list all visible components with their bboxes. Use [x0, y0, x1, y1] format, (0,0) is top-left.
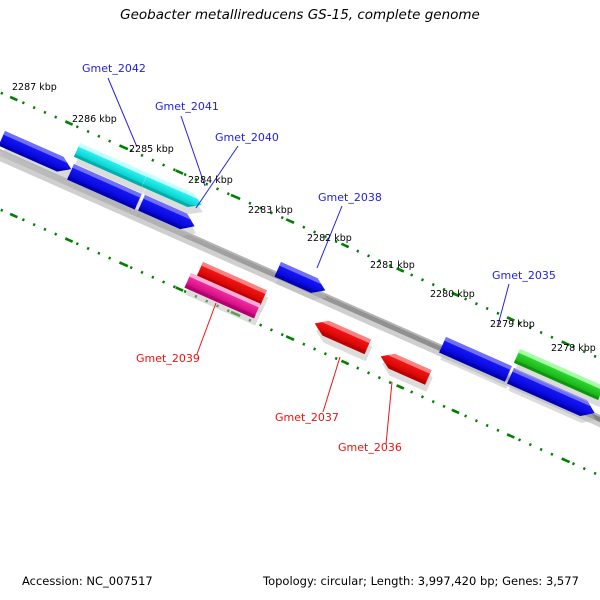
tick-label-2284: 2284 kbp	[188, 175, 233, 186]
leader-line-2037	[323, 357, 340, 412]
genome-map-canvas: Geobacter metallireducens GS-15, complet…	[0, 0, 600, 600]
leader-line-2036	[386, 382, 392, 444]
gene-feature-2035-a[interactable]	[437, 337, 516, 389]
tick-label-2285: 2285 kbp	[129, 144, 174, 155]
genome-stats-text: Topology: circular; Length: 3,997,420 bp…	[262, 574, 579, 588]
tick-label-2278: 2278 kbp	[551, 343, 596, 354]
gene-label-2037[interactable]: Gmet_2037	[275, 411, 339, 424]
gene-feature-2036[interactable]	[375, 349, 435, 392]
tick-label-2286: 2286 kbp	[72, 114, 117, 125]
genome-map-svg: Geobacter metallireducens GS-15, complet…	[0, 0, 600, 600]
gene-label-2041[interactable]: Gmet_2041	[155, 100, 219, 113]
tick-rail-lower	[0, 205, 600, 480]
gene-label-2040[interactable]: Gmet_2040	[215, 131, 279, 144]
tick-label-2287: 2287 kbp	[12, 82, 57, 93]
leader-line-2039	[197, 303, 216, 354]
page-title: Geobacter metallireducens GS-15, complet…	[120, 7, 480, 23]
tick-label-2279: 2279 kbp	[490, 319, 535, 330]
leader-line-2042	[108, 78, 137, 147]
gene-label-2038[interactable]: Gmet_2038	[318, 191, 382, 204]
tick-label-2282: 2282 kbp	[307, 233, 352, 244]
tick-label-2280: 2280 kbp	[430, 289, 475, 300]
accession-text: Accession: NC_007517	[22, 574, 153, 588]
gene-label-2042[interactable]: Gmet_2042	[82, 62, 146, 75]
gene-label-2036[interactable]: Gmet_2036	[338, 441, 402, 454]
gene-label-2035[interactable]: Gmet_2035	[492, 269, 556, 282]
tick-label-2283: 2283 kbp	[248, 205, 293, 216]
tick-label-2281: 2281 kbp	[370, 260, 415, 271]
gene-label-2039[interactable]: Gmet_2039	[136, 352, 200, 365]
